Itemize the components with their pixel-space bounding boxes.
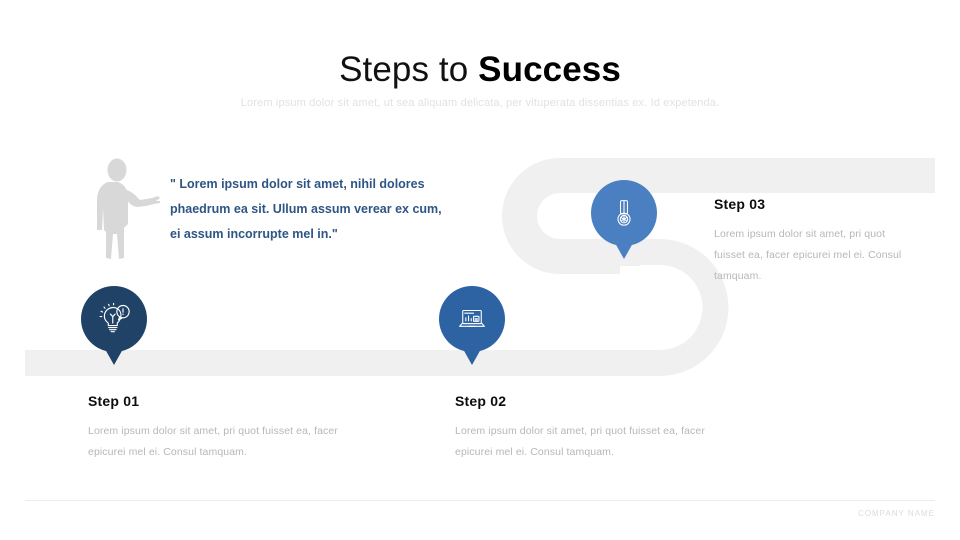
page-title: Steps to Success (0, 48, 960, 92)
page-subtitle: Lorem ipsum dolor sit amet, ut sea aliqu… (0, 95, 960, 111)
footer-divider (25, 500, 935, 501)
step-title-3: Step 03 (714, 195, 904, 213)
medal-award-icon (607, 196, 641, 230)
step-title-2: Step 02 (455, 392, 715, 410)
step-body-1: Lorem ipsum dolor sit amet, pri quot fui… (88, 421, 348, 463)
lightbulb-idea-icon (96, 301, 132, 337)
step-marker-pin-2[interactable] (439, 286, 505, 352)
step-block-2: Step 02 Lorem ipsum dolor sit amet, pri … (455, 392, 715, 463)
step-marker-pin-3[interactable] (591, 180, 657, 246)
step-body-3: Lorem ipsum dolor sit amet, pri quot fui… (714, 224, 904, 287)
step-marker-pin-1[interactable] (81, 286, 147, 352)
footer-company-name: COMPANY NAME (858, 509, 935, 518)
step-block-3: Step 03 Lorem ipsum dolor sit amet, pri … (714, 195, 904, 287)
quote-text: " Lorem ipsum dolor sit amet, nihil dolo… (170, 172, 450, 247)
page-title-bold: Success (478, 50, 621, 89)
presenter-silhouette (86, 158, 166, 268)
laptop-chart-icon (455, 302, 489, 336)
step-title-1: Step 01 (88, 392, 348, 410)
page-title-light: Steps to (339, 50, 478, 89)
step-body-2: Lorem ipsum dolor sit amet, pri quot fui… (455, 421, 715, 463)
slide-canvas: Steps to Success Lorem ipsum dolor sit a… (0, 0, 960, 540)
step-block-1: Step 01 Lorem ipsum dolor sit amet, pri … (88, 392, 348, 463)
